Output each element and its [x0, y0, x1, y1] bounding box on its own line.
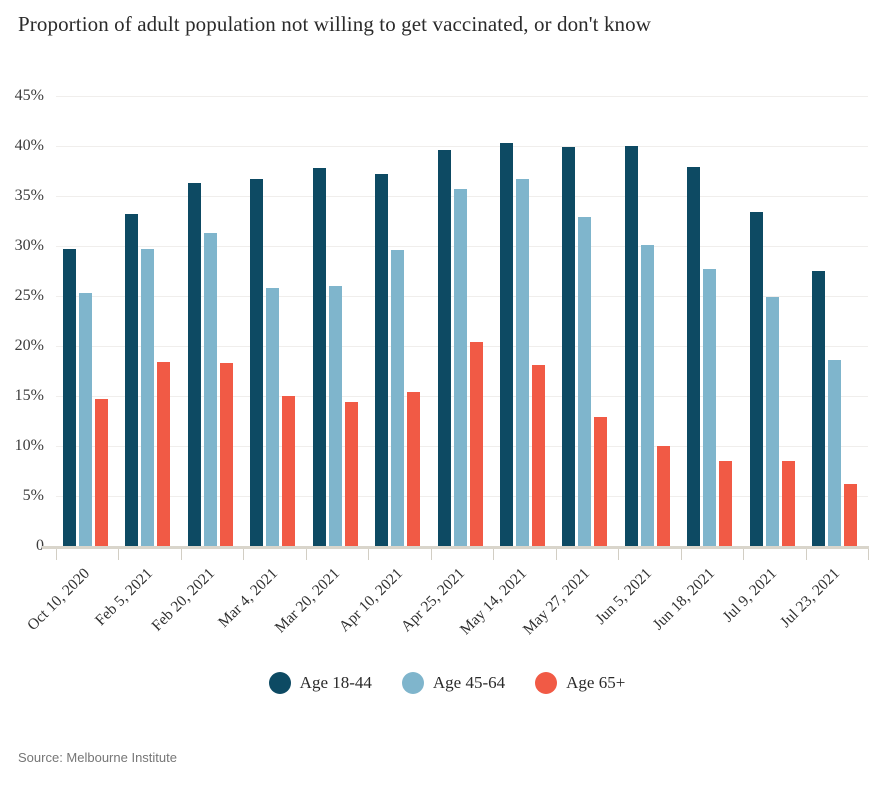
y-tick-label: 5% [23, 487, 44, 505]
x-tick [806, 549, 807, 560]
bar [470, 342, 483, 546]
x-tick-label: Mar 4, 2021 [215, 565, 282, 632]
bar [141, 249, 154, 546]
bar-group [313, 96, 358, 546]
bar [63, 249, 76, 546]
x-tick [743, 549, 744, 560]
bar-group [250, 96, 295, 546]
bar [79, 293, 92, 546]
bar [500, 143, 513, 546]
bar-group [750, 96, 795, 546]
bar [220, 363, 233, 546]
bar [562, 147, 575, 546]
x-tick [618, 549, 619, 560]
legend-label: Age 65+ [566, 673, 625, 693]
legend-swatch-icon [535, 672, 557, 694]
x-tick-label: Jul 23, 2021 [777, 565, 844, 632]
bar [516, 179, 529, 546]
bar-group [438, 96, 483, 546]
bar [204, 233, 217, 546]
source-note: Source: Melbourne Institute [18, 750, 177, 765]
x-tick [493, 549, 494, 560]
y-tick-label: 15% [15, 387, 44, 405]
y-tick-label: 40% [15, 137, 44, 155]
bar-group [188, 96, 233, 546]
y-axis: 45%40%35%30%25%20%15%10%5%0 [0, 96, 50, 546]
legend-item[interactable]: Age 45-64 [402, 672, 505, 694]
x-tick [306, 549, 307, 560]
bar [250, 179, 263, 546]
legend-label: Age 45-64 [433, 673, 505, 693]
bar [391, 250, 404, 546]
x-tick-label: Jul 9, 2021 [720, 565, 781, 626]
bar [719, 461, 732, 546]
bar [828, 360, 841, 546]
plot-area [56, 96, 868, 546]
y-tick-label: 20% [15, 337, 44, 355]
legend-item[interactable]: Age 18-44 [269, 672, 372, 694]
chart-legend: Age 18-44Age 45-64Age 65+ [0, 672, 894, 694]
x-tick-label: Feb 5, 2021 [92, 565, 157, 630]
bar-group [812, 96, 857, 546]
x-tick [868, 549, 869, 560]
bar [282, 396, 295, 546]
bar [594, 417, 607, 546]
bar-group [375, 96, 420, 546]
x-tick-label: Mar 20, 2021 [272, 565, 344, 637]
bar-group [500, 96, 545, 546]
x-tick [181, 549, 182, 560]
x-tick [431, 549, 432, 560]
bar [188, 183, 201, 546]
bar [329, 286, 342, 546]
x-tick [243, 549, 244, 560]
legend-label: Age 18-44 [300, 673, 372, 693]
x-tick [118, 549, 119, 560]
bar [454, 189, 467, 546]
legend-swatch-icon [269, 672, 291, 694]
bar-groups [56, 96, 868, 546]
x-tick-label: Feb 20, 2021 [149, 565, 219, 635]
bar [812, 271, 825, 546]
x-tick-label: May 27, 2021 [520, 565, 594, 639]
y-tick-label: 25% [15, 287, 44, 305]
bar [125, 214, 138, 546]
y-tick-label: 30% [15, 237, 44, 255]
x-tick-label: Jun 5, 2021 [593, 565, 657, 629]
bar [844, 484, 857, 546]
bar-group [562, 96, 607, 546]
bar [407, 392, 420, 546]
chart-title: Proportion of adult population not willi… [18, 12, 651, 37]
bar [766, 297, 779, 546]
x-tick-label: Oct 10, 2020 [24, 565, 94, 635]
bar [345, 402, 358, 546]
x-tick [368, 549, 369, 560]
bar [687, 167, 700, 546]
bar [266, 288, 279, 546]
bar-group [125, 96, 170, 546]
bar [782, 461, 795, 546]
x-tick-label: Jun 18, 2021 [650, 565, 719, 634]
x-tick [681, 549, 682, 560]
bar [657, 446, 670, 546]
x-tick-label: May 14, 2021 [457, 565, 531, 639]
x-tick-label: Apr 10, 2021 [335, 565, 406, 636]
y-tick-label: 45% [15, 87, 44, 105]
bar [750, 212, 763, 546]
bar [438, 150, 451, 546]
bar [95, 399, 108, 546]
bar [157, 362, 170, 546]
x-axis: Oct 10, 2020Feb 5, 2021Feb 20, 2021Mar 4… [56, 549, 868, 659]
legend-item[interactable]: Age 65+ [535, 672, 625, 694]
bar [641, 245, 654, 546]
bar-group [625, 96, 670, 546]
bar [703, 269, 716, 546]
bar [625, 146, 638, 546]
x-tick [56, 549, 57, 560]
bar-group [63, 96, 108, 546]
bar [532, 365, 545, 546]
y-tick-label: 10% [15, 437, 44, 455]
x-tick [556, 549, 557, 560]
y-tick-label: 35% [15, 187, 44, 205]
bar [313, 168, 326, 546]
legend-swatch-icon [402, 672, 424, 694]
bar-group [687, 96, 732, 546]
bar [375, 174, 388, 546]
vaccination-hesitancy-bar-chart: Proportion of adult population not willi… [0, 0, 894, 785]
bar [578, 217, 591, 546]
